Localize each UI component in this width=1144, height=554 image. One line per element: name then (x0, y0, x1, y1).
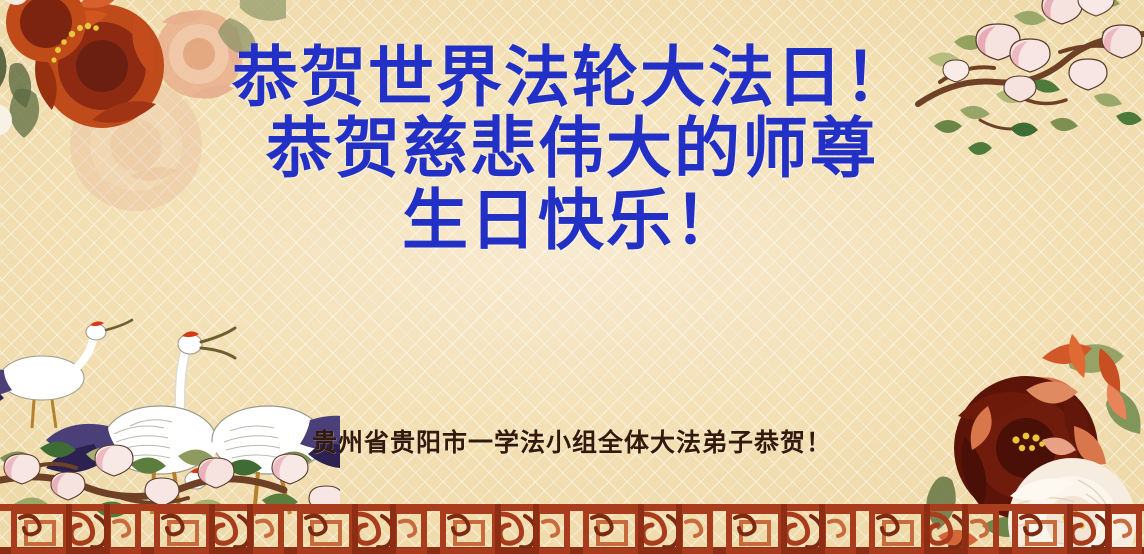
chinese-lattice-border (0, 492, 1144, 554)
peony-cluster-top-left-decoration (0, 0, 286, 220)
greeting-card: 恭贺世界法轮大法日！ 恭贺慈悲伟大的师尊 生日快乐！ 贵州省贵阳市一学法小组全体… (0, 0, 1144, 554)
peach-branch-top-right-decoration (910, 0, 1144, 176)
